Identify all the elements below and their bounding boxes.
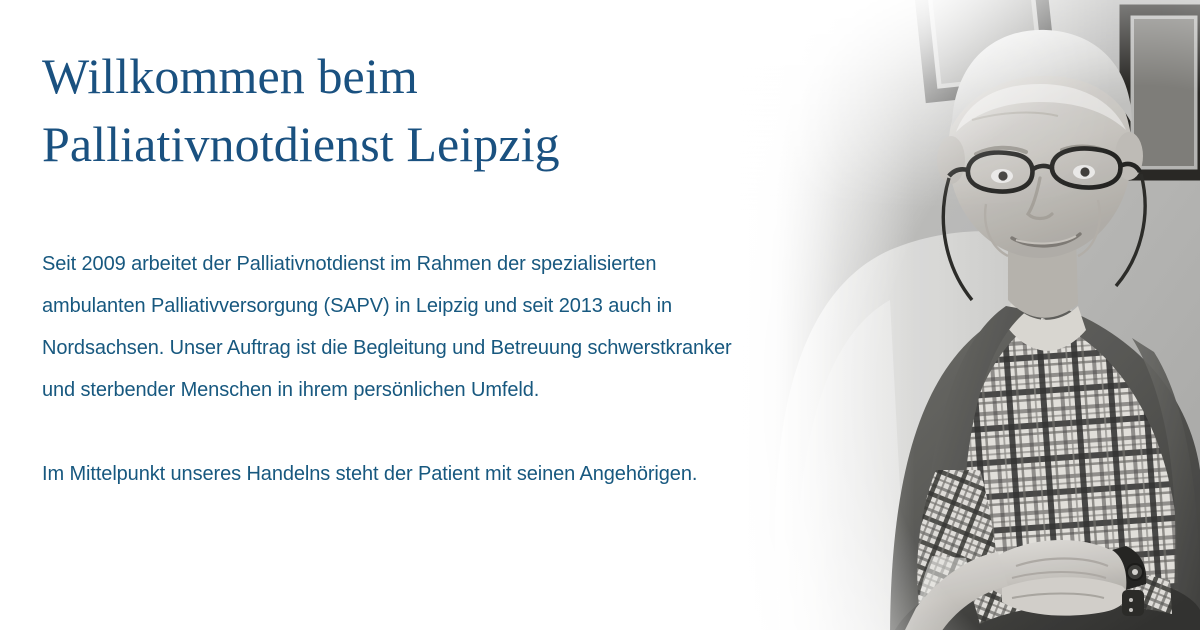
hero-body-text: Seit 2009 arbeitet der Palliativnotdiens… [42, 243, 742, 495]
intro-paragraph-2: Im Mittelpunkt unseres Handelns steht de… [42, 453, 742, 495]
intro-paragraph-1: Seit 2009 arbeitet der Palliativnotdiens… [42, 243, 742, 411]
page-title: Willkommen beim Palliativnotdienst Leipz… [42, 42, 560, 178]
portrait-photo-illustration [740, 0, 1200, 630]
page-title-line-1: Willkommen beim [42, 42, 560, 110]
hero-photo [740, 0, 1200, 630]
hero-text-column: Willkommen beim Palliativnotdienst Leipz… [42, 0, 752, 630]
hero-banner: Willkommen beim Palliativnotdienst Leipz… [0, 0, 1200, 630]
page-title-line-2: Palliativnotdienst Leipzig [42, 110, 560, 178]
